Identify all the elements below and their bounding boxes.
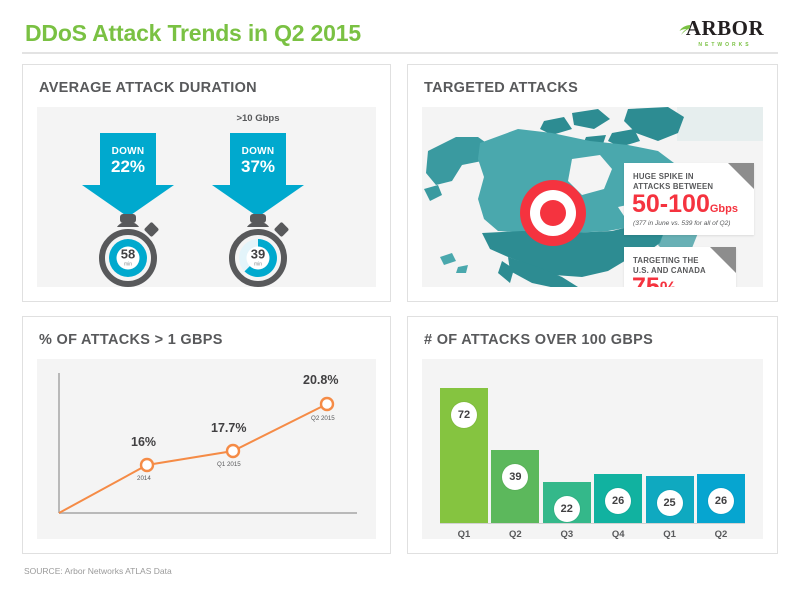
bar-chart-xlabels: Q12014Q22014Q32014Q42014Q12015Q22015: [440, 529, 745, 539]
line-chart-body: 16% 2014 17.7% Q1 2015 20.8% Q2 2015: [37, 359, 376, 539]
callout-1-heading: HUGE SPIKE IN ATTACKS BETWEEN: [633, 172, 713, 191]
bar-column: 39: [491, 373, 539, 523]
bar-x-label: Q22014: [491, 529, 539, 539]
down-arrow-icon-1: DOWN 22%: [100, 133, 156, 217]
stopwatch-1-value: 58: [121, 247, 135, 262]
duration-metric-1-arrow-value: 22%: [100, 158, 156, 176]
bar-column: 22: [543, 373, 591, 523]
bar-value-bubble: 39: [502, 464, 528, 490]
duration-metric-2-toplabel: >10 Gbps: [183, 113, 333, 124]
panel-title-100gbps: # OF ATTACKS OVER 100 GBPS: [424, 332, 653, 348]
bar-x-quarter: Q4: [594, 529, 642, 539]
bar-x-quarter: Q3: [543, 529, 591, 539]
bar-x-quarter: Q1: [440, 529, 488, 539]
infographic-page: DDoS Attack Trends in Q2 2015 ARBOR NETW…: [0, 0, 800, 600]
bar-x-quarter: Q2: [491, 529, 539, 539]
duration-metric-2: >10 Gbps DOWN 37%: [183, 107, 333, 287]
bar: 72: [440, 388, 488, 523]
duration-metric-1: DOWN 22% 58 min: [53, 107, 203, 287]
bar-x-label: Q42014: [594, 529, 642, 539]
bar: 26: [594, 474, 642, 523]
source-note: SOURCE: Arbor Networks ATLAS Data: [24, 566, 172, 576]
bar-chart-axis: [440, 523, 745, 524]
bar-chart: 723922262526 Q12014Q22014Q32014Q42014Q12…: [422, 359, 763, 539]
callout-2-value: 75: [632, 273, 660, 287]
bar-value-bubble: 22: [554, 496, 580, 522]
targeted-body: HUGE SPIKE IN ATTACKS BETWEEN 50-100Gbps…: [422, 107, 763, 287]
bar-x-quarter: Q2: [697, 529, 745, 539]
callout-huge-spike: HUGE SPIKE IN ATTACKS BETWEEN 50-100Gbps…: [624, 163, 754, 235]
bar-column: 26: [697, 373, 745, 523]
leaf-icon: [679, 19, 691, 30]
line-value-label-2: 20.8%: [303, 373, 338, 387]
callout-2-value-row: 75%: [632, 275, 677, 287]
bar-chart-body: 723922262526 Q12014Q22014Q32014Q42014Q12…: [422, 359, 763, 539]
bar-series: 723922262526: [440, 373, 745, 523]
callout-1-value: 50-100: [632, 190, 710, 218]
bar-value-bubble: 72: [451, 402, 477, 428]
bar-column: 72: [440, 373, 488, 523]
bar-column: 26: [594, 373, 642, 523]
callout-1-unit: Gbps: [710, 203, 738, 215]
panel-attacks-over-100gbps: # OF ATTACKS OVER 100 GBPS 723922262526 …: [407, 316, 778, 554]
callout-2-unit: %: [660, 279, 677, 287]
logo-text: ARBOR: [686, 16, 764, 40]
bar: 26: [697, 474, 745, 523]
line-value-label-1: 17.7%: [211, 421, 246, 435]
stopwatch-1-unit: min: [124, 262, 132, 268]
data-point-q2-2015: [321, 398, 333, 410]
bar-x-label: Q22015: [697, 529, 745, 539]
header: DDoS Attack Trends in Q2 2015 ARBOR NETW…: [0, 0, 800, 58]
callout-1-value-row: 50-100Gbps: [632, 192, 738, 217]
line-series: [59, 404, 327, 513]
stopwatch-2-unit: min: [254, 262, 262, 268]
page-title: DDoS Attack Trends in Q2 2015: [25, 20, 361, 47]
logo-subtext: NETWORKS: [670, 42, 780, 48]
callout-targeting-us-canada: TARGETING THE U.S. AND CANADA 75%: [624, 247, 736, 287]
bar-x-quarter: Q1: [646, 529, 694, 539]
duration-metric-2-arrow-value: 37%: [230, 158, 286, 176]
bar-x-label: Q12015: [646, 529, 694, 539]
bar-column: 25: [646, 373, 694, 523]
duration-metric-2-arrow-label: DOWN: [230, 147, 286, 158]
arbor-networks-logo: ARBOR NETWORKS: [670, 18, 780, 48]
data-point-q1-2015: [227, 445, 239, 457]
stopwatch-icon-1: 58 min: [89, 210, 167, 287]
panel-title-targeted: TARGETED ATTACKS: [424, 80, 578, 96]
line-sublabel-2: Q2 2015: [311, 415, 335, 422]
down-arrow-icon-2: DOWN 37%: [230, 133, 286, 217]
panel-title-duration: AVERAGE ATTACK DURATION: [39, 80, 257, 96]
panel-percent-attacks-over-1gbps: % OF ATTACKS > 1 GBPS 16% 2014 17.7%: [22, 316, 391, 554]
panel-targeted-attacks: TARGETED ATTACKS: [407, 64, 778, 302]
bar-value-bubble: 25: [657, 490, 683, 516]
bar: 39: [491, 450, 539, 523]
duration-metric-1-arrow-label: DOWN: [100, 147, 156, 158]
folded-corner-icon-1: [728, 163, 754, 189]
panel-title-pct-1gbps: % OF ATTACKS > 1 GBPS: [39, 332, 223, 348]
stopwatch-icon-2: 39 min: [219, 210, 297, 287]
logo-wordmark: ARBOR: [686, 18, 764, 39]
bar-value-bubble: 26: [605, 488, 631, 514]
folded-corner-icon-2: [710, 247, 736, 273]
line-sublabel-1: Q1 2015: [217, 461, 241, 468]
bar-x-label: Q32014: [543, 529, 591, 539]
panel-average-attack-duration: AVERAGE ATTACK DURATION DOWN 22%: [22, 64, 391, 302]
stopwatch-2-value: 39: [251, 247, 265, 262]
bar-x-label: Q12014: [440, 529, 488, 539]
bar: 25: [646, 476, 694, 523]
duration-body: DOWN 22% 58 min: [37, 107, 376, 287]
data-point-2014: [141, 459, 153, 471]
line-sublabel-0: 2014: [137, 475, 151, 482]
target-marker-icon: [519, 179, 587, 247]
callout-1-note: (377 in June vs. 539 for all of Q2): [633, 220, 731, 227]
bar-value-bubble: 26: [708, 488, 734, 514]
line-value-label-0: 16%: [131, 435, 156, 449]
header-divider: [22, 52, 778, 54]
bar: 22: [543, 482, 591, 523]
